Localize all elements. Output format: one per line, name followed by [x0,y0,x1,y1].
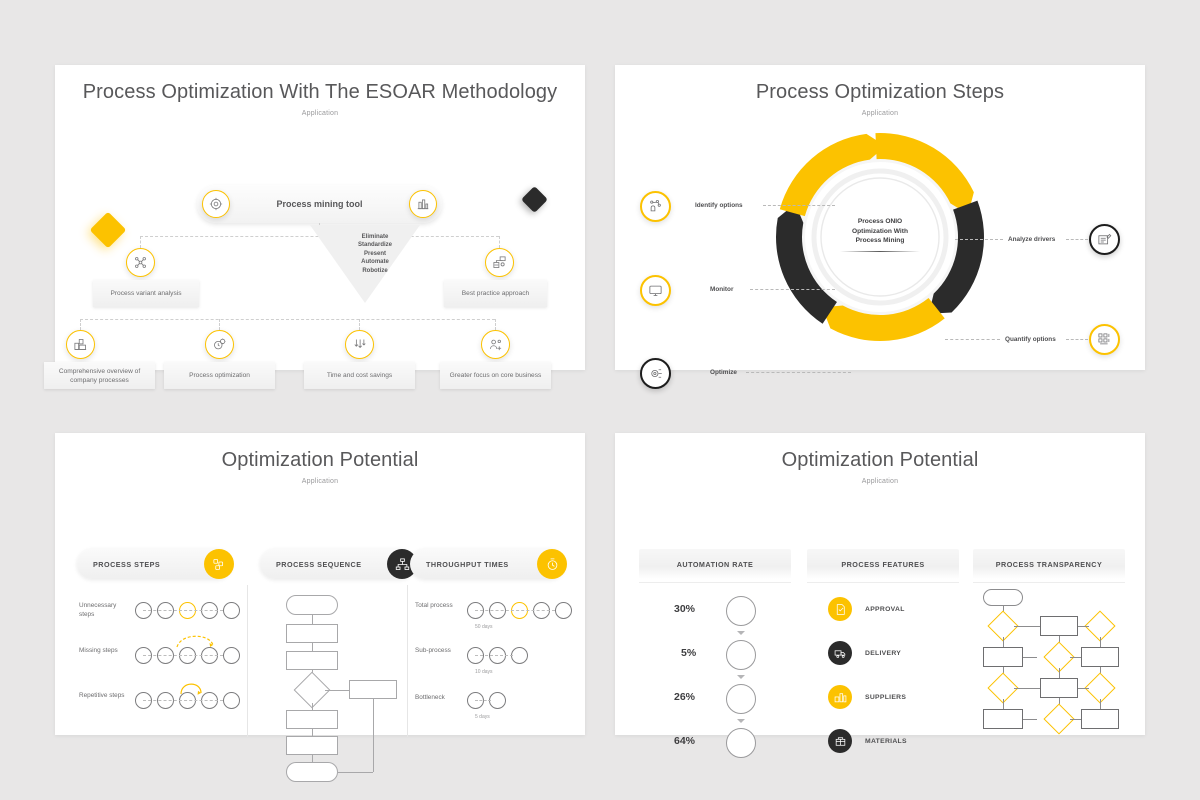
flow-step [286,736,338,755]
flow-return-h [338,772,373,773]
connector-drop-4 [495,319,496,330]
connector-drop-1 [80,319,81,330]
transparency-connector [1100,699,1101,709]
column-divider-2 [407,585,408,737]
yellow-diamond-decoration [90,212,127,249]
potential-columns: PROCESS STEPS Unnecessary steps Missing … [55,485,585,735]
time-cost-savings-label: Time and cost savings [327,371,392,380]
step-label-analyze-drivers: Analyze drivers [1008,236,1055,243]
process-blocks-icon [204,549,234,579]
missing-step-arc [173,631,218,649]
card-automation-rate[interactable]: AUTOMATION RATE [639,549,791,579]
leader-line-optimize [746,372,851,373]
factory-chart-icon [409,190,437,218]
suppliers-icon [828,685,852,709]
step-label-monitor: Monitor [710,286,733,293]
feature-label-suppliers: SUPPLIERS [865,694,906,701]
step-label-optimize: Optimize [710,369,737,376]
card-heading: AUTOMATION RATE [639,549,791,569]
transparency-connector [1003,637,1004,647]
stopwatch-icon [537,549,567,579]
nodes-hand-icon[interactable] [640,191,671,222]
process-optimization-card[interactable]: Process optimization [164,362,275,389]
step-node [223,647,240,664]
duration-sub-process: 10 days [475,669,493,675]
automation-rate-value: 5% [681,647,696,659]
transparency-connector [1023,657,1037,658]
best-practice-approach-card[interactable]: Best practice approach [444,280,547,307]
page-title: Process Optimization With The ESOAR Meth… [55,65,585,104]
step-node [223,692,240,709]
dark-diamond-decoration [521,186,548,213]
flow-step [286,651,338,670]
leader-line-analyze-2 [1066,239,1088,240]
column-divider-1 [247,585,248,737]
time-link [475,700,491,701]
step-label-identify-options: Identify options [695,202,743,209]
leader-line-analyze [955,239,1003,240]
time-node [511,647,528,664]
flow-connector [312,703,313,710]
column-header-label: PROCESS STEPS [93,560,160,569]
leader-line-identify [763,205,835,206]
transparency-task [1081,647,1119,667]
page-subtitle: Application [615,110,1145,117]
duration-total-process: 50 days [475,624,493,630]
flow-end [286,762,338,782]
connector-bus-lower [80,319,495,320]
leader-line-quantify-2 [1066,339,1088,340]
network-nodes-icon [126,248,155,277]
transparency-task [1081,709,1119,729]
slide-optimization-potential-b[interactable]: Optimization Potential Application AUTOM… [615,433,1145,735]
row-label-repetitive: Repetitive steps [79,691,125,700]
leader-line-quantify [945,339,1000,340]
feature-label-approval: APPROVAL [865,606,905,613]
card-rule-2 [807,582,959,583]
automation-rate-bubble [726,728,756,758]
flow-step [286,710,338,729]
connector-drop-3 [359,319,360,330]
gear-settings-icon [202,190,230,218]
row-label-bottleneck: Bottleneck [415,693,461,702]
duration-bottleneck: 5 days [475,714,490,720]
step-link [143,655,223,656]
greater-focus-label: Greater focus on core business [450,371,542,380]
page-title: Optimization Potential [55,433,585,472]
time-node [489,692,506,709]
flow-return-v [373,699,374,772]
process-optimization-label: Process optimization [189,371,250,380]
transparency-connector [1014,626,1040,627]
automation-rate-value: 30% [674,603,695,615]
leader-line-monitor [750,289,835,290]
donut-cycle-diagram: Process ONIO Optimization With Process M… [615,117,1145,367]
step-link [143,610,223,611]
delivery-truck-icon [828,641,852,665]
process-variant-analysis-label: Process variant analysis [110,289,181,298]
esoar-word: Automate [338,258,412,266]
transparency-connector [1023,719,1037,720]
card-rule-3 [973,582,1125,583]
connector-drop-2 [219,319,220,330]
flow-branch-step [349,680,397,699]
gear-clock-icon [205,330,234,359]
row-label-sub-process: Sub-process [415,646,461,655]
target-focus-icon [481,330,510,359]
transparency-start [983,589,1023,606]
best-practice-icon [485,248,514,277]
esoar-word: Standardize [338,241,412,249]
time-link [475,655,513,656]
automation-rate-value: 64% [674,735,695,747]
transparency-connector [1014,688,1040,689]
flow-start [286,595,338,615]
flow-connector [312,615,313,624]
potential-cards: AUTOMATION RATE 30% 5% 26% 64% PROCESS F… [615,485,1145,735]
time-link [475,610,555,611]
automation-rate-bubble [726,684,756,714]
step-link [143,700,223,701]
materials-icon [828,729,852,753]
transparency-connector [1070,657,1081,658]
greater-focus-card[interactable]: Greater focus on core business [440,362,551,389]
transparency-task [983,647,1023,667]
center-line-2: Optimization With [832,227,928,237]
time-cost-savings-card[interactable]: Time and cost savings [304,362,415,389]
quantify-grid-icon[interactable] [1089,324,1120,355]
flow-connector [312,643,313,651]
chevron-down-icon [737,675,745,679]
monitor-screen-icon[interactable] [640,275,671,306]
automation-rate-bubble [726,596,756,626]
overview-report-icon [66,330,95,359]
donut-center-label: Process ONIO Optimization With Process M… [832,217,928,246]
transparency-connector [1003,699,1004,709]
page-subtitle: Application [55,478,585,485]
repetitive-step-arc [177,678,207,696]
automation-rate-value: 26% [674,691,695,703]
analysis-doc-icon[interactable] [1089,224,1120,255]
slide-deck: Process Optimization With The ESOAR Meth… [0,0,1200,800]
transparency-task [1040,616,1078,636]
connector-drop-left [140,236,141,248]
center-line-1: Process ONIO [832,217,928,227]
page-title: Optimization Potential [615,433,1145,472]
cost-down-arrows-icon [345,330,374,359]
transparency-connector [1059,668,1060,678]
automation-rate-bubble [726,640,756,670]
column-header-label: PROCESS SEQUENCE [276,560,361,569]
step-node [223,602,240,619]
card-heading: PROCESS FEATURES [807,549,959,569]
card-process-features[interactable]: PROCESS FEATURES [807,549,959,579]
transparency-task [983,709,1023,729]
transparency-connector [1078,688,1089,689]
page-subtitle: Application [615,478,1145,485]
process-mining-tool-label: Process mining tool [276,199,362,209]
row-label-unnecessary: Unnecessary steps [79,601,125,619]
column-header-label: THROUGHPUT TIMES [426,560,509,569]
esoar-word-list: Eliminate Standardize Present Automate R… [338,233,412,275]
process-variant-analysis-card[interactable]: Process variant analysis [93,280,199,307]
transparency-connector [1100,637,1101,647]
transparency-connector [1070,719,1081,720]
esoar-word: Robotize [338,267,412,275]
comprehensive-overview-card[interactable]: Comprehensive overview of company proces… [44,362,155,389]
flow-connector [312,729,313,736]
slide-esoar-methodology[interactable]: Process Optimization With The ESOAR Meth… [55,65,585,370]
feature-label-materials: MATERIALS [865,738,907,745]
optimize-gear-icon[interactable] [640,358,671,389]
approval-doc-icon [828,597,852,621]
card-rule-1 [639,582,791,583]
card-heading: PROCESS TRANSPARENCY [973,549,1125,569]
row-label-total-process: Total process [415,601,461,610]
feature-label-delivery: DELIVERY [865,650,901,657]
transparency-task [1040,678,1078,698]
connector-drop-right [499,236,500,248]
esoar-word: Eliminate [338,233,412,241]
page-title: Process Optimization Steps [615,65,1145,104]
flow-connector [312,755,313,762]
slide-optimization-steps[interactable]: Process Optimization Steps Application P… [615,65,1145,370]
esoar-word: Present [338,250,412,258]
esoar-diagram: Process mining tool [55,117,585,367]
center-divider [840,251,920,252]
time-node [555,602,572,619]
transparency-connector [1078,626,1089,627]
flow-connector [325,690,349,691]
row-label-missing: Missing steps [79,646,125,655]
comprehensive-overview-label: Comprehensive overview of company proces… [46,367,153,385]
card-process-transparency[interactable]: PROCESS TRANSPARENCY [973,549,1125,579]
center-line-3: Process Mining [832,236,928,246]
best-practice-approach-label: Best practice approach [462,289,529,298]
page-subtitle: Application [55,110,585,117]
flow-step [286,624,338,643]
step-label-quantify-options: Quantify options [1005,336,1056,343]
chevron-down-icon [737,631,745,635]
chevron-down-icon [737,719,745,723]
process-mining-tool-node[interactable]: Process mining tool [197,185,442,223]
slide-optimization-potential-a[interactable]: Optimization Potential Application PROCE… [55,433,585,735]
